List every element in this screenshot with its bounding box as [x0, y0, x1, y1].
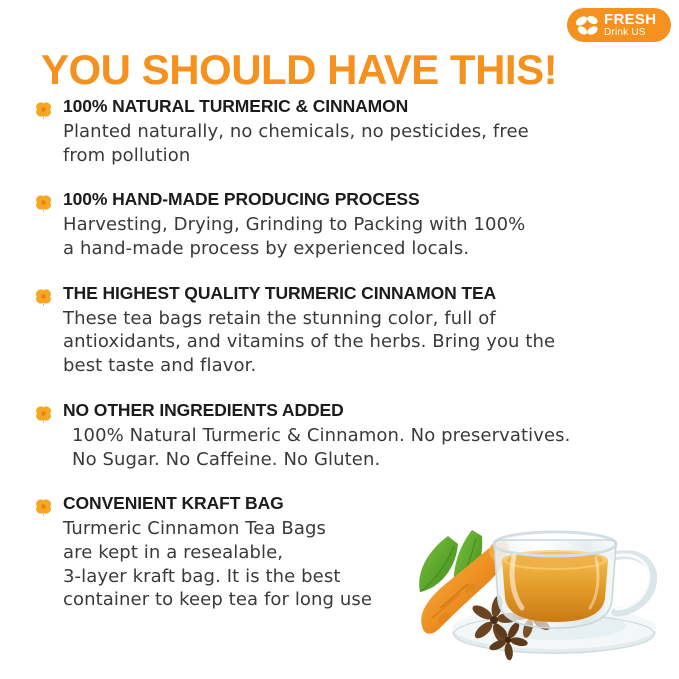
feature-body: 100% Natural Turmeric & Cinnamon. No pre… — [63, 424, 645, 472]
feature-body-line: These tea bags retain the stunning color… — [63, 307, 645, 331]
feature-body-line: Harvesting, Drying, Grinding to Packing … — [63, 213, 645, 237]
feature-body-line: from pollution — [63, 144, 645, 168]
clover-flower-icon — [33, 192, 54, 213]
flower-leaf-icon — [571, 10, 603, 40]
page-title: YOU SHOULD HAVE THIS! — [41, 46, 557, 94]
clover-flower-icon — [33, 99, 54, 120]
feature-body-line: container to keep tea for long use — [63, 588, 393, 612]
feature-item: 100% NATURAL TURMERIC & CINNAMON Planted… — [33, 96, 645, 167]
feature-body-line: Turmeric Cinnamon Tea Bags — [63, 517, 393, 541]
feature-heading: THE HIGHEST QUALITY TURMERIC CINNAMON TE… — [63, 283, 645, 305]
feature-body-line: No Sugar. No Caffeine. No Gluten. — [63, 448, 645, 472]
feature-body-line: Planted naturally, no chemicals, no pest… — [63, 120, 645, 144]
feature-body-line: antioxidants, and vitamins of the herbs.… — [63, 330, 645, 354]
glass-teacup — [494, 532, 616, 628]
feature-heading: 100% HAND-MADE PRODUCING PROCESS — [63, 189, 645, 211]
brand-logo-badge: FRESH Drink US — [567, 8, 671, 42]
feature-body: Planted naturally, no chemicals, no pest… — [63, 120, 645, 168]
feature-body: These tea bags retain the stunning color… — [63, 307, 645, 378]
clover-flower-icon — [33, 496, 54, 517]
feature-body-line: 3-layer kraft bag. It is the best — [63, 565, 393, 589]
feature-heading: NO OTHER INGREDIENTS ADDED — [63, 400, 645, 422]
feature-body-line: best taste and flavor. — [63, 354, 645, 378]
feature-body: Turmeric Cinnamon Tea Bags are kept in a… — [63, 517, 393, 612]
feature-body-line: 100% Natural Turmeric & Cinnamon. No pre… — [63, 424, 645, 448]
feature-item: THE HIGHEST QUALITY TURMERIC CINNAMON TE… — [33, 283, 645, 378]
clover-flower-icon — [33, 286, 54, 307]
brand-tagline: Drink US — [604, 28, 646, 38]
feature-body-line: a hand-made process by experienced local… — [63, 237, 645, 261]
feature-body-line: are kept in a resealable, — [63, 541, 393, 565]
cup-handle — [614, 555, 653, 612]
product-photo — [386, 508, 676, 668]
feature-body: Harvesting, Drying, Grinding to Packing … — [63, 213, 645, 261]
feature-item: 100% HAND-MADE PRODUCING PROCESS Harvest… — [33, 189, 645, 260]
feature-item: NO OTHER INGREDIENTS ADDED 100% Natural … — [33, 400, 645, 471]
feature-heading: 100% NATURAL TURMERIC & CINNAMON — [63, 96, 645, 118]
brand-name: FRESH — [604, 12, 656, 27]
clover-flower-icon — [33, 403, 54, 424]
brand-logo-text: FRESH Drink US — [604, 12, 656, 38]
